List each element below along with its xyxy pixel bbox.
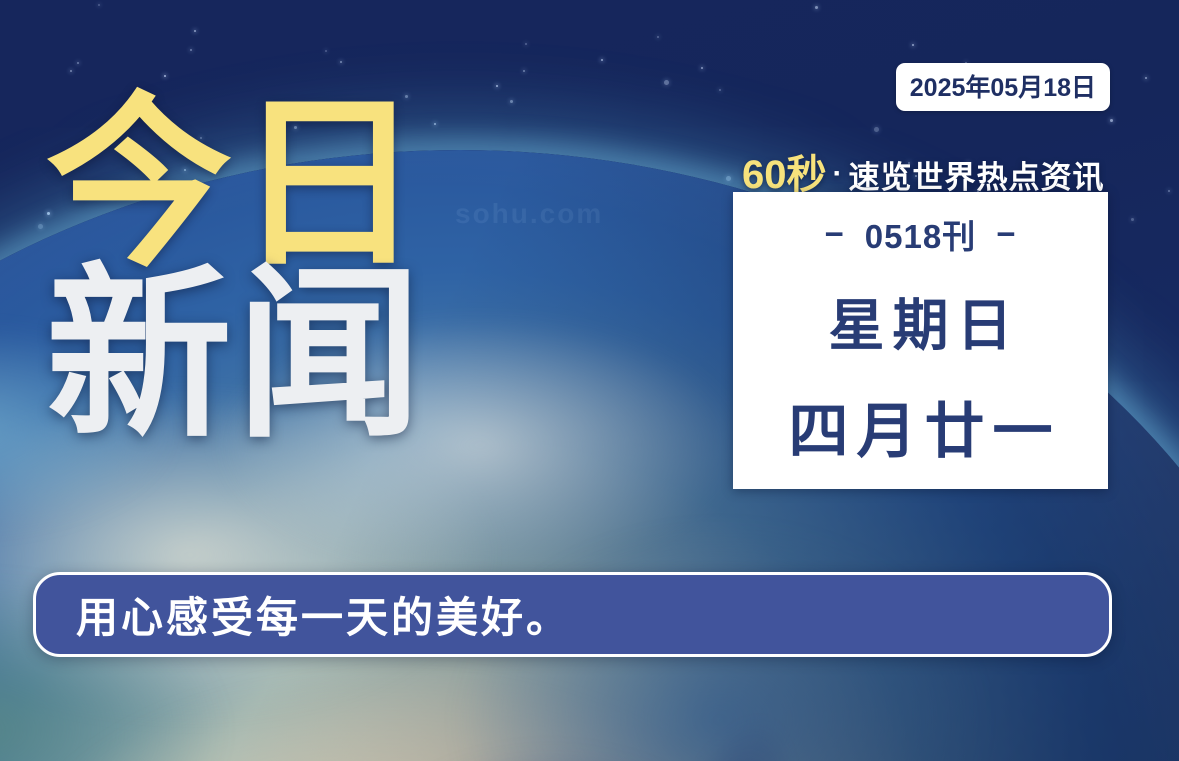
- tagline-text: 速览世界热点资讯: [849, 160, 1105, 195]
- issue-row: − 0518刊 −: [825, 210, 1017, 258]
- quote-text: 用心感受每一天的美好。: [76, 584, 571, 645]
- issue-dash-right: −: [996, 215, 1016, 253]
- date-info-card: − 0518刊 − 星期日 四月廿一: [733, 192, 1108, 489]
- lunar-date-text: 四月廿一: [781, 383, 1061, 470]
- issue-dash-left: −: [825, 215, 845, 253]
- weekday-text: 星期日: [821, 281, 1021, 362]
- news-poster: sohu.com 今日 新闻 2025年05月18日 60秒·速览世界热点资讯 …: [0, 0, 1179, 761]
- title-line-2: 新闻: [46, 267, 426, 444]
- issue-number: 0518刊: [865, 210, 976, 258]
- tagline-highlight: 60秒: [742, 153, 827, 197]
- watermark: sohu.com: [455, 198, 603, 230]
- tagline-separator: ·: [827, 157, 849, 190]
- date-badge: 2025年05月18日: [896, 63, 1110, 111]
- page-title: 今日 新闻: [46, 96, 426, 443]
- quote-banner: 用心感受每一天的美好。: [33, 572, 1112, 657]
